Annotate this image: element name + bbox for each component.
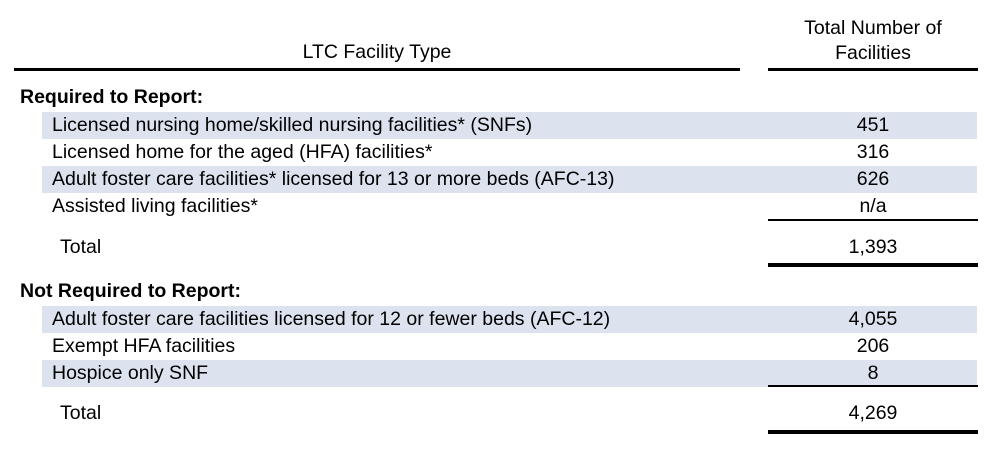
section-title-not-required-to-report: Not Required to Report: bbox=[20, 278, 241, 305]
row-label: Hospice only SNF bbox=[52, 360, 208, 387]
total-value: 1,393 bbox=[768, 232, 978, 262]
row-value: 4,055 bbox=[768, 306, 978, 333]
row-label: Exempt HFA facilities bbox=[52, 333, 235, 360]
row-label: Assisted living facilities* bbox=[52, 193, 258, 220]
table-row: Adult foster care facilities licensed fo… bbox=[0, 306, 998, 333]
header-rule-right bbox=[768, 68, 978, 71]
table-row: Licensed nursing home/skilled nursing fa… bbox=[0, 112, 998, 139]
subtotal-rule-top bbox=[768, 385, 978, 387]
total-row-required: Total 1,393 bbox=[0, 232, 998, 262]
row-value: n/a bbox=[768, 193, 978, 220]
total-row-not-required: Total 4,269 bbox=[0, 398, 998, 428]
column-header-total-facilities-line1: Total Number of bbox=[768, 16, 978, 41]
table-row: Adult foster care facilities* licensed f… bbox=[0, 166, 998, 193]
row-value: 626 bbox=[768, 166, 978, 193]
total-value: 4,269 bbox=[768, 398, 978, 428]
table-header: LTC Facility Type Total Number of Facili… bbox=[0, 0, 998, 72]
total-label: Total bbox=[60, 398, 101, 428]
row-value: 316 bbox=[768, 139, 978, 166]
table-row: Assisted living facilities* n/a bbox=[0, 193, 998, 220]
column-header-facility-type: LTC Facility Type bbox=[14, 40, 740, 64]
table-row: Exempt HFA facilities 206 bbox=[0, 333, 998, 360]
row-label: Adult foster care facilities* licensed f… bbox=[52, 166, 614, 193]
subtotal-rule-bottom bbox=[768, 263, 978, 267]
ltc-facility-table-page: LTC Facility Type Total Number of Facili… bbox=[0, 0, 998, 457]
section-title-required-to-report: Required to Report: bbox=[20, 84, 203, 111]
subtotal-rule-bottom bbox=[768, 430, 978, 434]
column-header-total-facilities: Total Number of Facilities bbox=[768, 16, 978, 66]
row-value: 206 bbox=[768, 333, 978, 360]
row-value: 8 bbox=[768, 360, 978, 387]
total-label: Total bbox=[60, 232, 101, 262]
header-rule-left bbox=[14, 68, 740, 71]
column-header-total-facilities-line2: Facilities bbox=[768, 41, 978, 66]
row-label: Adult foster care facilities licensed fo… bbox=[52, 306, 610, 333]
subtotal-rule-top bbox=[768, 219, 978, 221]
row-value: 451 bbox=[768, 112, 978, 139]
table-row: Hospice only SNF 8 bbox=[0, 360, 998, 387]
row-label: Licensed nursing home/skilled nursing fa… bbox=[52, 112, 532, 139]
table-row: Licensed home for the aged (HFA) facilit… bbox=[0, 139, 998, 166]
row-label: Licensed home for the aged (HFA) facilit… bbox=[52, 139, 432, 166]
